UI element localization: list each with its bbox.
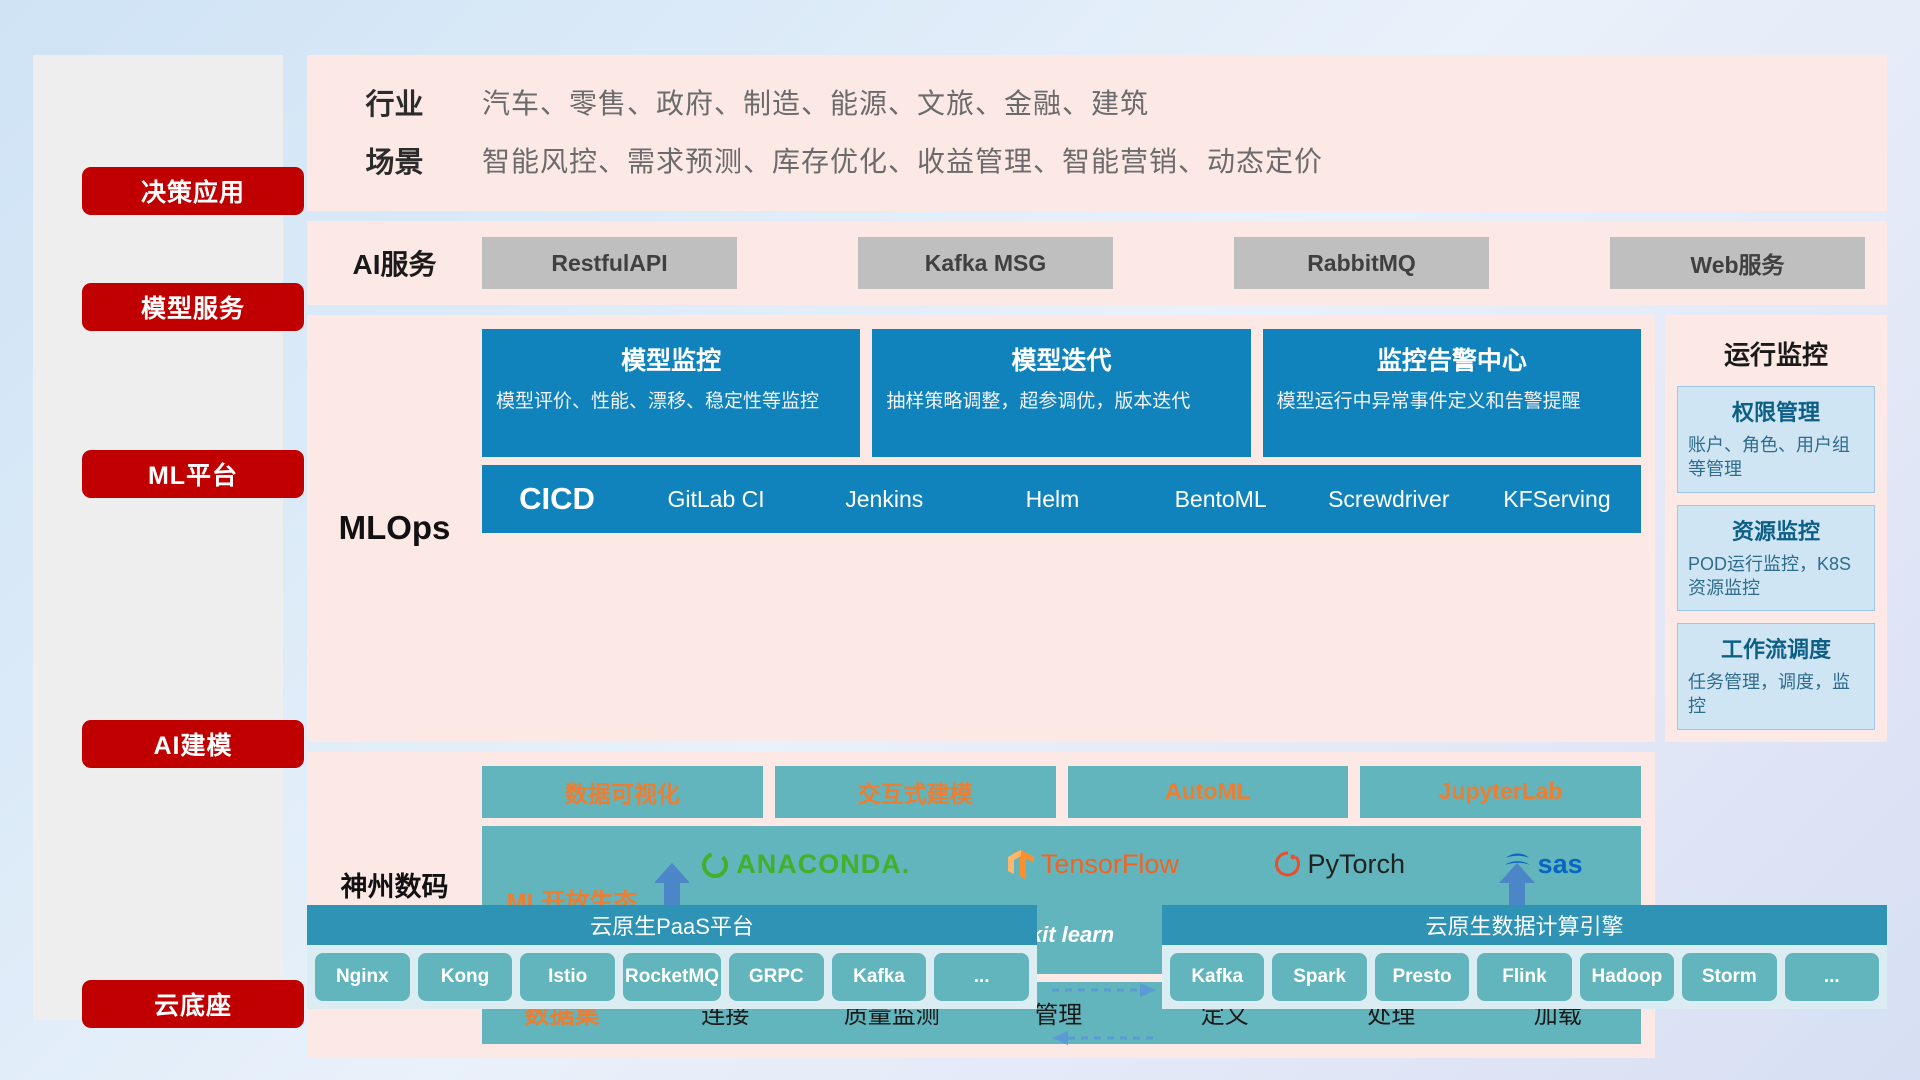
logo-sas-text: sas [1538, 849, 1583, 880]
mlops-card-desc: 模型运行中异常事件定义和告警提醒 [1277, 389, 1627, 415]
ai-service-item[interactable]: Kafka MSG [858, 237, 1113, 289]
architecture-diagram: 决策应用 模型服务 ML平台 AI建模 云底座 行业 汽车、零售、政府、制造、能… [0, 0, 1920, 1080]
anaconda-icon [700, 850, 730, 880]
monitoring-card-permission[interactable]: 权限管理 账户、角色、用户组等管理 [1677, 386, 1875, 493]
engine-chip-hadoop[interactable]: Hadoop [1580, 953, 1674, 1001]
cicd-bar: CICD GitLab CI Jenkins Helm BentoML Scre… [482, 465, 1641, 533]
runtime-monitoring-title: 运行监控 [1677, 335, 1875, 372]
industry-line: 行业 汽车、零售、政府、制造、能源、文旅、金融、建筑 [307, 73, 1887, 131]
mlops-section: MLOps 模型监控 模型评价、性能、漂移、稳定性等监控 模型迭代 抽样策略调整… [307, 315, 1887, 742]
cicd-item-kfserving[interactable]: KFServing [1473, 487, 1641, 511]
engine-chip-presto[interactable]: Presto [1375, 953, 1469, 1001]
mlops-label: MLOps [307, 329, 482, 728]
tensorflow-icon [1007, 849, 1035, 881]
ai-service-item[interactable]: RestfulAPI [482, 237, 737, 289]
engine-chip-flink[interactable]: Flink [1477, 953, 1571, 1001]
logo-anaconda-text: ANACONDA. [736, 849, 910, 880]
industry-label: 行业 [307, 81, 482, 123]
mlops-card-model-monitoring[interactable]: 模型监控 模型评价、性能、漂移、稳定性等监控 [482, 329, 860, 457]
paas-platform: 云原生PaaS平台 Nginx Kong Istio RocketMQ GRPC… [307, 905, 1037, 1009]
cicd-item-helm[interactable]: Helm [968, 487, 1136, 511]
cicd-item-screwdriver[interactable]: Screwdriver [1305, 487, 1473, 511]
cicd-item-bentoml[interactable]: BentoML [1137, 487, 1305, 511]
engine-chip-storm[interactable]: Storm [1682, 953, 1776, 1001]
mlops-card-desc: 抽样策略调整，超参调优，版本迭代 [886, 389, 1236, 415]
engine-chip-spark[interactable]: Spark [1272, 953, 1366, 1001]
rail-item-model-service[interactable]: 模型服务 [82, 283, 304, 331]
monitoring-card-resource[interactable]: 资源监控 POD运行监控，K8S资源监控 [1677, 505, 1875, 612]
paas-chip-kafka[interactable]: Kafka [832, 953, 927, 1001]
tool-interactive-modeling[interactable]: 交互式建模 [775, 766, 1056, 818]
monitoring-card-desc: 账户、角色、用户组等管理 [1688, 433, 1864, 482]
industry-values: 汽车、零售、政府、制造、能源、文旅、金融、建筑 [482, 82, 1149, 122]
monitoring-card-title: 权限管理 [1688, 395, 1864, 427]
mlops-card-desc: 模型评价、性能、漂移、稳定性等监控 [496, 389, 846, 415]
cloud-base-section: 云原生PaaS平台 Nginx Kong Istio RocketMQ GRPC… [307, 885, 1887, 1045]
tool-jupyterlab[interactable]: JupyterLab [1360, 766, 1641, 818]
paas-title: 云原生PaaS平台 [307, 905, 1037, 945]
connector-arrow-right-icon [1052, 980, 1162, 1000]
monitoring-card-desc: 任务管理，调度，监控 [1688, 670, 1864, 719]
rail-item-cloud-base[interactable]: 云底座 [82, 980, 304, 1028]
cicd-label: CICD [482, 481, 632, 517]
logo-anaconda: ANACONDA. [700, 849, 910, 880]
monitoring-card-title: 工作流调度 [1688, 632, 1864, 664]
scenario-label: 场景 [307, 139, 482, 181]
up-arrow-engine-icon [1497, 863, 1537, 905]
up-arrow-paas-icon [652, 863, 692, 905]
engine-title: 云原生数据计算引擎 [1162, 905, 1887, 945]
logo-pytorch: PyTorch [1275, 849, 1405, 880]
paas-chip-kong[interactable]: Kong [418, 953, 513, 1001]
ai-service-band: AI服务 RestfulAPI Kafka MSG RabbitMQ Web服务 [307, 221, 1887, 305]
pytorch-icon [1275, 850, 1301, 880]
connector-arrow-left-icon [1052, 1028, 1162, 1048]
mlops-card-title: 监控告警中心 [1277, 341, 1627, 377]
monitoring-card-title: 资源监控 [1688, 514, 1864, 546]
ai-service-label: AI服务 [307, 243, 482, 283]
engine-chip-kafka[interactable]: Kafka [1170, 953, 1264, 1001]
cicd-item-gitlab-ci[interactable]: GitLab CI [632, 487, 800, 511]
layer-rail: 决策应用 模型服务 ML平台 AI建模 云底座 [33, 55, 283, 1020]
paas-chip-nginx[interactable]: Nginx [315, 953, 410, 1001]
ai-service-item[interactable]: RabbitMQ [1234, 237, 1489, 289]
paas-chip-rocketmq[interactable]: RocketMQ [623, 953, 721, 1001]
scenario-line: 场景 智能风控、需求预测、库存优化、收益管理、智能营销、动态定价 [307, 131, 1887, 189]
mlops-card-alert-center[interactable]: 监控告警中心 模型运行中异常事件定义和告警提醒 [1263, 329, 1641, 457]
paas-chip-istio[interactable]: Istio [520, 953, 615, 1001]
tool-automl[interactable]: AutoML [1068, 766, 1349, 818]
ai-service-item[interactable]: Web服务 [1610, 237, 1865, 289]
rail-item-decision-app[interactable]: 决策应用 [82, 167, 304, 215]
mlops-card-model-iteration[interactable]: 模型迭代 抽样策略调整，超参调优，版本迭代 [872, 329, 1250, 457]
engine-chip-more[interactable]: ... [1785, 953, 1879, 1001]
data-compute-engine: 云原生数据计算引擎 Kafka Spark Presto Flink Hadoo… [1162, 905, 1887, 1009]
logo-tensorflow-text: TensorFlow [1041, 849, 1179, 880]
tool-data-visualization[interactable]: 数据可视化 [482, 766, 763, 818]
industry-scenario-band: 行业 汽车、零售、政府、制造、能源、文旅、金融、建筑 场景 智能风控、需求预测、… [307, 55, 1887, 211]
scenario-values: 智能风控、需求预测、库存优化、收益管理、智能营销、动态定价 [482, 140, 1323, 180]
paas-chip-more[interactable]: ... [934, 953, 1029, 1001]
mlops-card-title: 模型迭代 [886, 341, 1236, 377]
cicd-item-jenkins[interactable]: Jenkins [800, 487, 968, 511]
runtime-monitoring-panel: 运行监控 权限管理 账户、角色、用户组等管理 资源监控 POD运行监控，K8S资… [1665, 315, 1887, 742]
paas-chip-grpc[interactable]: GRPC [729, 953, 824, 1001]
mlops-card-title: 模型监控 [496, 341, 846, 377]
monitoring-card-workflow[interactable]: 工作流调度 任务管理，调度，监控 [1677, 623, 1875, 730]
logo-pytorch-text: PyTorch [1307, 849, 1405, 880]
rail-item-ai-modeling[interactable]: AI建模 [82, 720, 304, 768]
logo-tensorflow: TensorFlow [1007, 849, 1179, 881]
monitoring-card-desc: POD运行监控，K8S资源监控 [1688, 552, 1864, 601]
rail-item-ml-platform[interactable]: ML平台 [82, 450, 304, 498]
